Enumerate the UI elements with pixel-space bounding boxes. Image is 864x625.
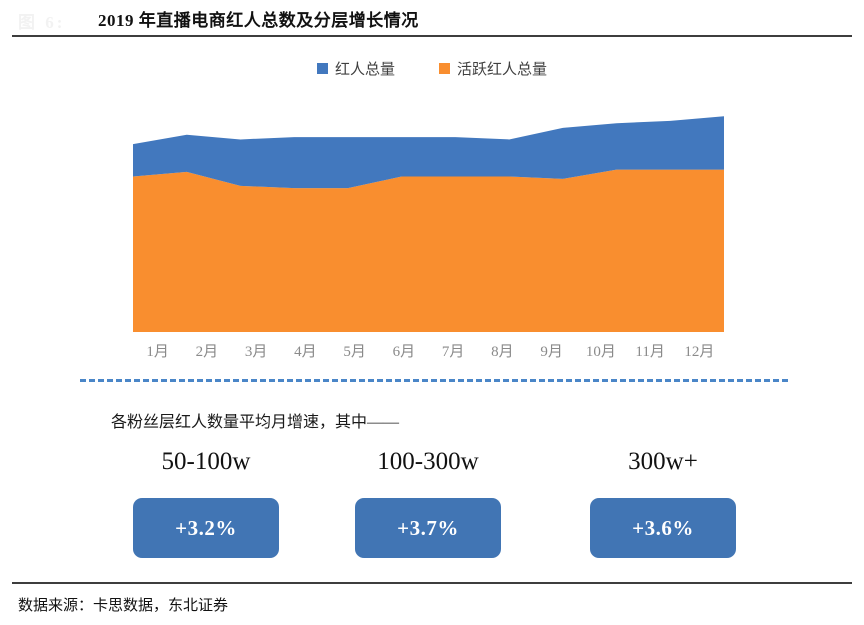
header-divider — [12, 35, 852, 37]
tier-label-300w-plus: 300w+ — [590, 448, 736, 476]
x-tick-4: 4月 — [281, 340, 330, 361]
data-source-note: 数据来源：卡思数据，东北证券 — [18, 594, 228, 615]
page-title: 2019 年直播电商红人总数及分层增长情况 — [98, 6, 419, 31]
figure-index-label: 图 6: — [18, 8, 65, 33]
x-tick-12: 12月 — [675, 340, 724, 361]
figure-container: 图 6: 2019 年直播电商红人总数及分层增长情况 红人总量 活跃红人总量 1… — [0, 0, 864, 625]
x-tick-7: 7月 — [429, 340, 478, 361]
legend-item-active[interactable]: 活跃红人总量 — [439, 58, 547, 79]
legend-label-total: 红人总量 — [335, 58, 395, 79]
chart-legend: 红人总量 活跃红人总量 — [0, 58, 864, 79]
tier-card-50-100w[interactable]: 50-100w +3.2% — [133, 448, 279, 560]
dashed-section-divider — [80, 379, 788, 382]
legend-label-active: 活跃红人总量 — [457, 58, 547, 79]
legend-swatch-active — [439, 63, 450, 74]
x-tick-10: 10月 — [576, 340, 625, 361]
x-tick-3: 3月 — [232, 340, 281, 361]
tier-label-50-100w: 50-100w — [133, 448, 279, 476]
tier-card-300w-plus[interactable]: 300w+ +3.6% — [590, 448, 736, 560]
tier-card-100-300w[interactable]: 100-300w +3.7% — [355, 448, 501, 560]
tier-badge-50-100w[interactable]: +3.2% — [133, 498, 279, 558]
x-tick-8: 8月 — [478, 340, 527, 361]
legend-item-total[interactable]: 红人总量 — [317, 58, 395, 79]
area-chart-svg — [133, 100, 724, 332]
section-caption: 各粉丝层红人数量平均月增速，其中—— — [111, 408, 399, 432]
x-tick-5: 5月 — [330, 340, 379, 361]
chart-x-axis: 1月 2月 3月 4月 5月 6月 7月 8月 9月 10月 11月 12月 — [133, 340, 724, 364]
x-tick-6: 6月 — [379, 340, 428, 361]
stacked-area-chart — [133, 100, 724, 332]
tier-group: 50-100w +3.2% 100-300w +3.7% 300w+ +3.6% — [133, 448, 725, 560]
x-tick-11: 11月 — [626, 340, 675, 361]
x-tick-2: 2月 — [182, 340, 231, 361]
tier-badge-300w-plus[interactable]: +3.6% — [590, 498, 736, 558]
tier-label-100-300w: 100-300w — [355, 448, 501, 476]
legend-swatch-total — [317, 63, 328, 74]
area-band-active-total — [133, 170, 724, 332]
x-tick-1: 1月 — [133, 340, 182, 361]
footer-divider — [12, 582, 852, 584]
x-tick-9: 9月 — [527, 340, 576, 361]
tier-badge-100-300w[interactable]: +3.7% — [355, 498, 501, 558]
